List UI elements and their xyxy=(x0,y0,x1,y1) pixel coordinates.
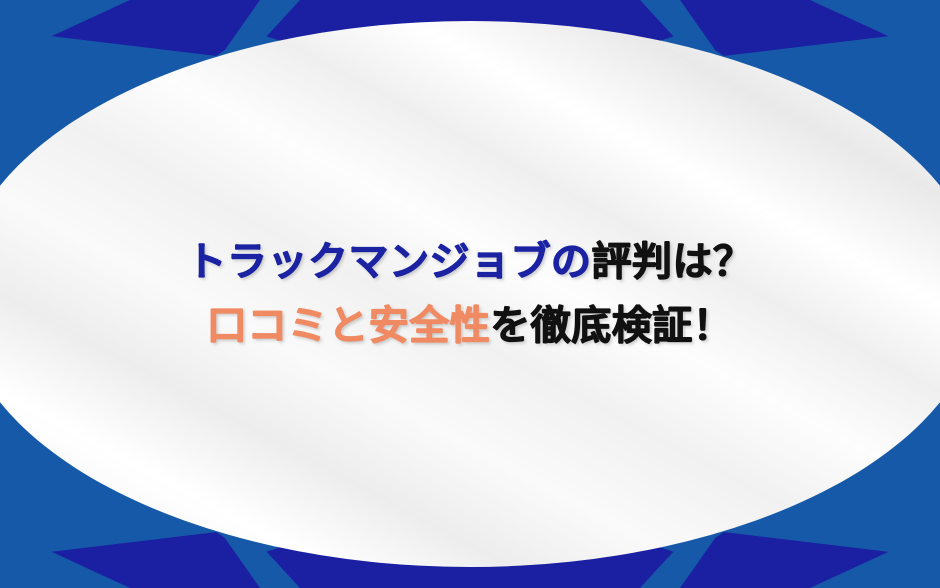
background-graphic xyxy=(0,0,940,588)
white-ellipse xyxy=(0,21,940,567)
eyecatch-canvas: トラックマンジョブの評判は？ 口コミと安全性を徹底検証！ xyxy=(0,0,940,588)
background-shapes xyxy=(0,0,940,588)
